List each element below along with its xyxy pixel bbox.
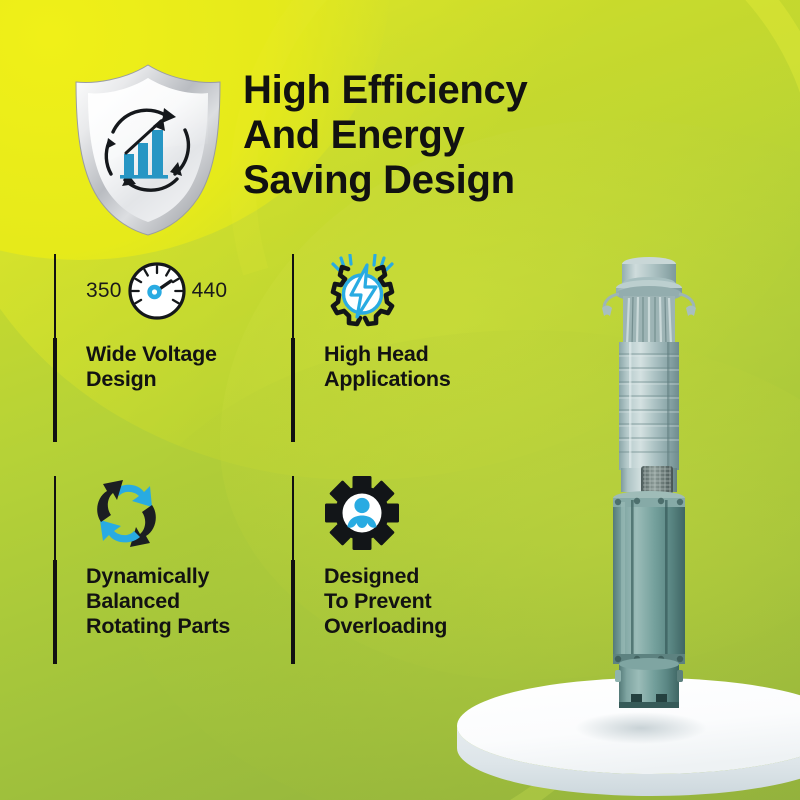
feature-label-line: Rotating Parts xyxy=(86,614,270,639)
page-title: High Efficiency And Energy Saving Design xyxy=(243,68,643,202)
feature-item-wide-voltage: 350 xyxy=(52,252,270,392)
voltage-min-value: 350 xyxy=(86,279,122,303)
headline-line-3: Saving Design xyxy=(243,158,643,203)
feature-icon-wrap: 350 xyxy=(86,252,270,330)
feature-label-high-head: High Head Applications xyxy=(324,342,508,392)
feature-label-line: Overloading xyxy=(324,614,508,639)
headline-line-2: And Energy xyxy=(243,113,643,158)
feature-item-prevent-overloading: Designed To Prevent Overloading xyxy=(290,474,508,639)
feature-label-line: To Prevent xyxy=(324,589,508,614)
rotating-arrows-icon xyxy=(86,475,168,551)
feature-icon-wrap xyxy=(324,252,508,330)
feature-label-dynamically-balanced: Dynamically Balanced Rotating Parts xyxy=(86,564,270,639)
feature-label-line: Wide Voltage xyxy=(86,342,270,367)
efficiency-shield-badge xyxy=(64,58,232,238)
feature-label-line: Design xyxy=(86,367,270,392)
headline-line-1: High Efficiency xyxy=(243,68,643,113)
voltage-max-value: 440 xyxy=(192,279,228,303)
pump-illustration xyxy=(585,250,713,720)
feature-label-line: Dynamically xyxy=(86,564,270,589)
gear-lightning-icon xyxy=(324,254,402,328)
submersible-pump-image xyxy=(585,250,713,720)
feature-divider xyxy=(52,254,57,442)
feature-label-prevent-overloading: Designed To Prevent Overloading xyxy=(324,564,508,639)
feature-item-dynamically-balanced: Dynamically Balanced Rotating Parts xyxy=(52,474,270,639)
feature-divider xyxy=(290,476,295,664)
feature-label-line: Balanced xyxy=(86,589,270,614)
gear-person-icon xyxy=(324,475,400,551)
voltage-gauge-row: 350 xyxy=(86,260,227,322)
speedometer-icon xyxy=(126,260,188,322)
feature-label-wide-voltage: Wide Voltage Design xyxy=(86,342,270,392)
feature-icon-wrap xyxy=(324,474,508,552)
feature-grid: 350 xyxy=(52,252,522,662)
feature-label-line: Designed xyxy=(324,564,508,589)
feature-icon-wrap xyxy=(86,474,270,552)
feature-divider xyxy=(52,476,57,664)
feature-divider xyxy=(290,254,295,442)
shield-icon xyxy=(64,58,232,238)
feature-label-line: Applications xyxy=(324,367,508,392)
feature-item-high-head: High Head Applications xyxy=(290,252,508,392)
feature-label-line: High Head xyxy=(324,342,508,367)
poster-canvas: High Efficiency And Energy Saving Design… xyxy=(0,0,800,800)
